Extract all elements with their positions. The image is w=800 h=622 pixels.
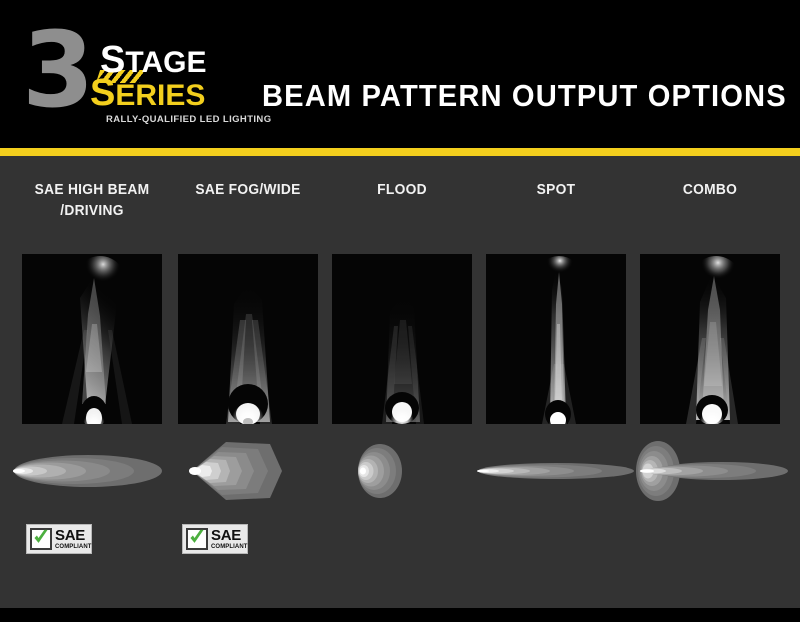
logo-word-series-rest: ERIES <box>115 79 205 112</box>
column-sae-fog-wide: SAE FOG/WIDE <box>178 156 318 608</box>
beam-diagram-spot <box>474 440 638 502</box>
beam-shape-fog-wide <box>166 440 330 502</box>
beam-photo-fog-wide <box>178 254 318 424</box>
brand-logo: 3 STAGE SERIES RALLY-QUALIFIED LED LIGHT… <box>22 26 252 130</box>
column-label: SAE FOG/WIDE <box>166 180 329 201</box>
column-flood: FLOOD <box>332 156 472 608</box>
night-road-photo-driving <box>22 254 162 424</box>
beam-diagram-combo <box>628 440 792 502</box>
beam-shape-flood <box>320 440 484 502</box>
logo-word-series: SERIES <box>90 74 205 112</box>
beam-shape-combo <box>628 440 792 502</box>
beam-diagram-driving <box>10 440 174 502</box>
accent-rule <box>0 148 800 156</box>
sae-badge-main: SAE <box>211 528 248 543</box>
night-road-photo-flood <box>332 254 472 424</box>
column-combo: COMBO <box>640 156 780 608</box>
night-road-photo-fog-wide <box>178 254 318 424</box>
sae-compliant-badge-driving: SAE COMPLIANT <box>26 524 92 554</box>
column-label: SAE HIGH BEAM /DRIVING <box>10 180 173 222</box>
header-bar: 3 STAGE SERIES RALLY-QUALIFIED LED LIGHT… <box>0 0 800 148</box>
beam-shape-driving <box>10 440 174 502</box>
sae-compliant-badge-fog-wide: SAE COMPLIANT <box>182 524 248 554</box>
column-spot: SPOT <box>486 156 626 608</box>
beam-photo-flood <box>332 254 472 424</box>
columns-area: SAE HIGH BEAM /DRIVING <box>0 156 800 608</box>
beam-photo-driving <box>22 254 162 424</box>
beam-shape-spot <box>474 440 638 502</box>
night-road-photo-spot <box>486 254 626 424</box>
beam-photo-combo <box>640 254 780 424</box>
column-label: SPOT <box>474 180 637 201</box>
beam-diagram-flood <box>320 440 484 502</box>
page-title: BEAM PATTERN OUTPUT OPTIONS <box>262 78 787 114</box>
beam-photo-spot <box>486 254 626 424</box>
beam-pattern-infographic: 3 STAGE SERIES RALLY-QUALIFIED LED LIGHT… <box>0 0 800 622</box>
sae-badge-sub: COMPLIANT <box>55 544 92 550</box>
column-sae-high-beam-driving: SAE HIGH BEAM /DRIVING <box>22 156 162 608</box>
sae-badge-main: SAE <box>55 528 92 543</box>
green-check-icon <box>186 528 208 550</box>
sae-badge-sub: COMPLIANT <box>211 544 248 550</box>
beam-diagram-fog-wide <box>166 440 330 502</box>
logo-tagline: RALLY-QUALIFIED LED LIGHTING <box>106 114 272 125</box>
logo-numeral-3: 3 <box>22 18 90 122</box>
column-label: FLOOD <box>320 180 483 201</box>
night-road-photo-combo <box>640 254 780 424</box>
green-check-icon <box>30 528 52 550</box>
sae-badge-text: SAE COMPLIANT <box>211 528 248 550</box>
sae-badge-text: SAE COMPLIANT <box>55 528 92 550</box>
column-label: COMBO <box>628 180 791 201</box>
footer-bar <box>0 608 800 622</box>
